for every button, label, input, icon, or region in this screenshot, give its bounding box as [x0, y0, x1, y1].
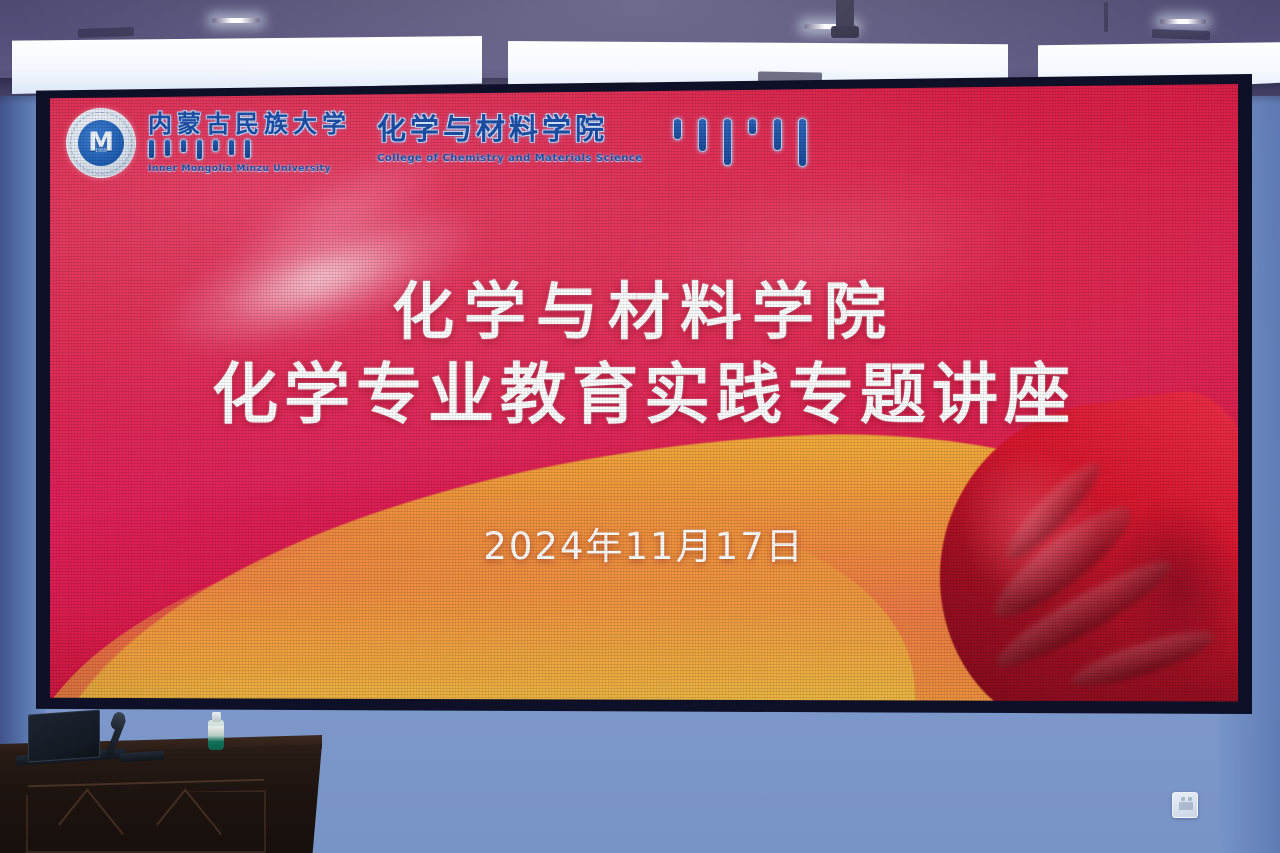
bottle-cap — [212, 712, 221, 722]
university-block: 内蒙古民族大学 Inner Mongolia Minzu University — [148, 112, 351, 173]
emblem-year: 1958 — [95, 148, 107, 154]
event-title: 化学与材料学院 化学专业教育实践专题讲座 — [50, 274, 1238, 434]
mongolian-glyph-vertical — [773, 118, 782, 151]
emblem-inner-disc: M 1958 — [78, 120, 124, 166]
led-screen: M 1958 内蒙古民族大学 Inner Mo — [50, 84, 1238, 704]
mongolian-glyph-vertical — [723, 118, 732, 166]
mongolian-glyph-vertical — [798, 118, 807, 167]
ceiling-projector — [836, 0, 854, 34]
wall-power-outlet — [1172, 792, 1198, 818]
mongolian-glyph — [164, 139, 171, 157]
event-title-line1: 化学与材料学院 — [50, 274, 1238, 350]
mongolian-glyph — [196, 139, 203, 160]
university-name-en: Inner Mongolia Minzu University — [148, 164, 351, 174]
university-emblem-icon: M 1958 — [66, 108, 136, 178]
mongolian-glyph — [180, 139, 187, 153]
event-title-line2: 化学专业教育实践专题讲座 — [50, 354, 1238, 435]
college-name-cn: 化学与材料学院 — [377, 114, 643, 144]
outlet-slot — [1181, 797, 1185, 801]
lecture-hall-scene: M 1958 内蒙古民族大学 Inner Mo — [0, 0, 1280, 853]
ceiling-hook — [1104, 2, 1108, 32]
event-date: 2024年11月17日 — [50, 516, 1238, 570]
water-bottle — [208, 712, 224, 750]
mongolian-glyph — [244, 139, 251, 159]
mongolian-glyph-vertical — [698, 118, 707, 152]
bottle-label — [208, 726, 224, 735]
ceiling-spotlight-left — [212, 18, 260, 23]
mongolian-glyph-vertical — [748, 118, 757, 135]
mongolian-glyph — [228, 139, 235, 156]
college-mongolian-script — [669, 112, 807, 167]
mongolian-glyph — [212, 139, 219, 152]
college-block: 化学与材料学院 College of Chemistry and Materia… — [377, 112, 643, 163]
mongolian-glyph — [148, 139, 155, 159]
outlet-slot — [1188, 797, 1192, 801]
header-titles: 内蒙古民族大学 Inner Mongolia Minzu University … — [148, 112, 807, 173]
college-name-en: College of Chemistry and Materials Scien… — [377, 153, 643, 164]
ceiling-spotlight-right — [1160, 19, 1206, 24]
screen-header: M 1958 内蒙古民族大学 Inner Mo — [66, 108, 807, 178]
presenter-laptop — [28, 709, 100, 762]
bottle-body — [208, 720, 224, 750]
university-mongolian-script — [148, 139, 351, 161]
mongolian-glyph-vertical — [673, 118, 682, 140]
university-name-cn: 内蒙古民族大学 — [148, 112, 351, 137]
